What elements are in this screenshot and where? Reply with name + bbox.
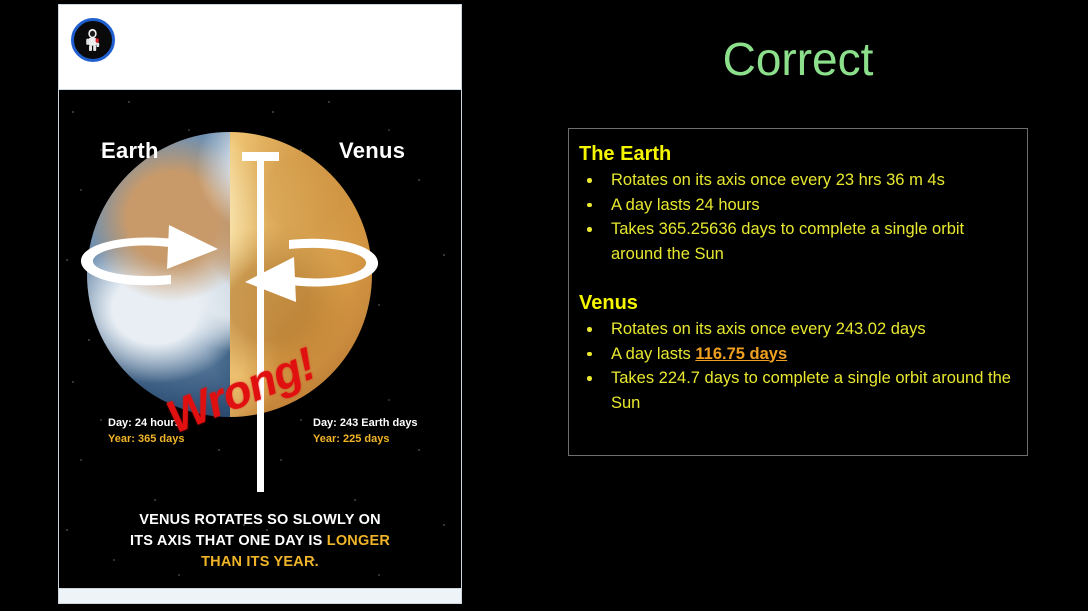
page-title: Correct xyxy=(568,32,1028,86)
rotation-arrow-left-icon xyxy=(245,239,378,302)
card-footer-bar xyxy=(59,588,461,603)
planet-comparison-scene: Earth Venus Day: 24 hours Year: 365 days… xyxy=(59,90,461,588)
earth-label: Earth xyxy=(101,138,159,164)
astronaut-avatar-icon xyxy=(71,18,115,62)
venus-year-text: Year: 225 days xyxy=(313,431,418,447)
earth-bullet-list: Rotates on its axis once every 23 hrs 36… xyxy=(579,168,1013,266)
list-item: Takes 365.25636 days to complete a singl… xyxy=(579,217,1013,266)
caption-line-3: THAN ITS YEAR. xyxy=(59,552,461,573)
list-item: A day lasts 116.75 days xyxy=(579,342,1013,367)
caption-line-2-highlight: LONGER xyxy=(327,533,390,549)
list-item-emphasis: 116.75 days xyxy=(695,345,787,363)
earth-year-text: Year: 365 days xyxy=(108,431,184,447)
venus-facts: Day: 243 Earth days Year: 225 days xyxy=(313,415,418,447)
planet-axis-cap-icon xyxy=(242,152,279,161)
card-header-bar xyxy=(59,5,461,90)
section-heading-venus: Venus xyxy=(579,290,1013,316)
list-item: Rotates on its axis once every 243.02 da… xyxy=(579,317,1013,342)
caption-line-2-plain: ITS AXIS THAT ONE DAY IS xyxy=(130,533,327,549)
facts-info-box: The Earth Rotates on its axis once every… xyxy=(568,128,1028,456)
slide-image-card: Earth Venus Day: 24 hours Year: 365 days… xyxy=(58,4,462,604)
venus-day-text: Day: 243 Earth days xyxy=(313,415,418,431)
caption-line-1: VENUS ROTATES SO SLOWLY ON xyxy=(59,510,461,531)
list-item: Takes 224.7 days to complete a single or… xyxy=(579,366,1013,415)
list-item: Rotates on its axis once every 23 hrs 36… xyxy=(579,168,1013,193)
list-item-prefix: A day lasts xyxy=(611,345,695,363)
rotation-arrow-right-icon xyxy=(81,225,218,285)
list-item: A day lasts 24 hours xyxy=(579,193,1013,218)
slide-caption: VENUS ROTATES SO SLOWLY ON ITS AXIS THAT… xyxy=(59,510,461,573)
section-heading-earth: The Earth xyxy=(579,141,1013,167)
venus-label: Venus xyxy=(339,138,405,164)
caption-line-2: ITS AXIS THAT ONE DAY IS LONGER xyxy=(59,531,461,552)
venus-bullet-list: Rotates on its axis once every 243.02 da… xyxy=(579,317,1013,415)
planet-axis-divider-icon xyxy=(257,152,264,492)
